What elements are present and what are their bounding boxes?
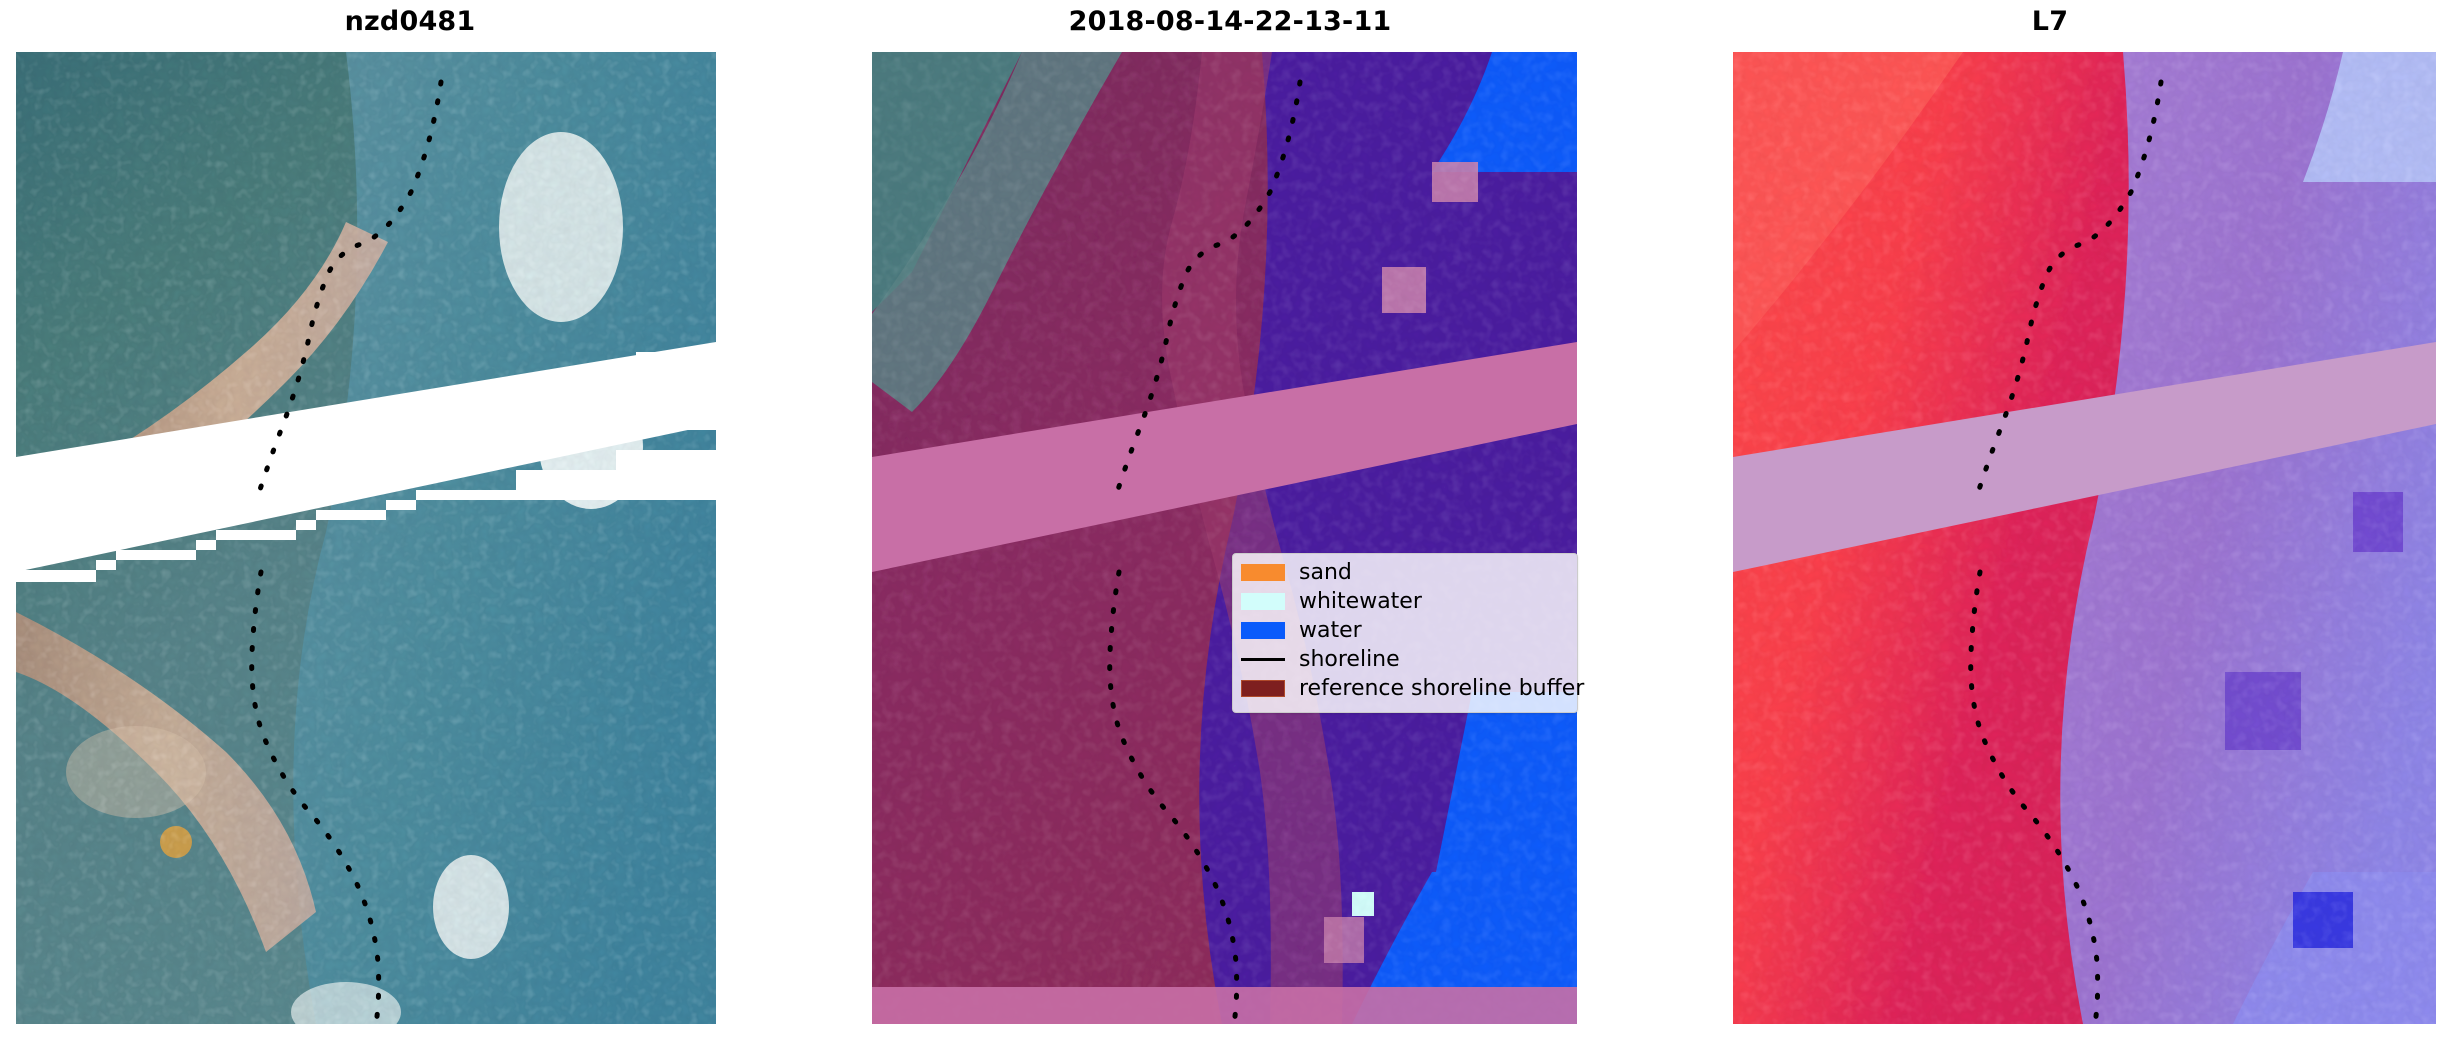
panel-title-l7: L7 [1640,6,2460,37]
legend-item-shoreline: shoreline [1241,645,1569,674]
legend-label-shoreline: shoreline [1299,649,1400,671]
panel-title-rgb: nzd0481 [0,6,820,37]
legend-label-water: water [1299,620,1362,642]
legend-label-reference-shoreline-buffer: reference shoreline buffer [1299,678,1584,700]
panel-l7: L7 [1640,0,2460,1054]
legend-label-whitewater: whitewater [1299,591,1422,613]
legend-item-water: water [1241,616,1569,645]
legend-swatch-sand [1241,564,1285,581]
legend-swatch-reference-shoreline-buffer [1241,680,1285,697]
legend-item-sand: sand [1241,558,1569,587]
axes-l7 [1733,52,2436,1024]
legend-item-whitewater: whitewater [1241,587,1569,616]
panel-rgb: nzd0481 [0,0,820,1054]
panel-title-classified: 2018-08-14-22-13-11 [820,6,1640,37]
axes-classified [872,52,1577,1024]
satellite-image-rgb [16,52,716,1024]
figure-canvas: nzd0481 [0,0,2460,1054]
satellite-image-l7 [1733,52,2436,1024]
legend-label-sand: sand [1299,562,1352,584]
panel-classified: 2018-08-14-22-13-11 [820,0,1640,1054]
legend-swatch-water [1241,622,1285,639]
legend: sand whitewater water shoreline referenc… [1232,553,1578,713]
legend-item-reference-shoreline-buffer: reference shoreline buffer [1241,674,1569,703]
satellite-image-classified [872,52,1577,1024]
legend-swatch-whitewater [1241,593,1285,610]
axes-rgb [16,52,716,1024]
legend-swatch-shoreline [1241,658,1285,661]
